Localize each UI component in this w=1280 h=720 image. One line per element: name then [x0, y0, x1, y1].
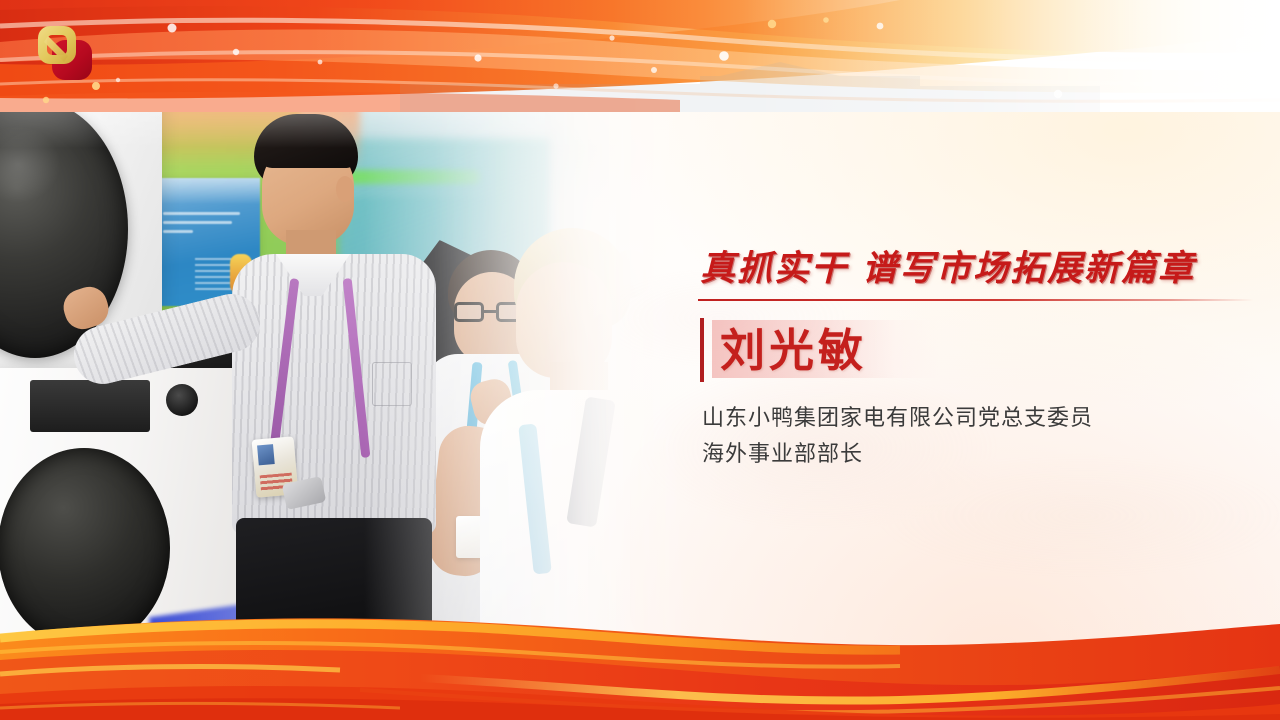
top-decorative-banner [0, 0, 1280, 112]
headline-slogan: 真抓实干 谱写市场拓展新篇章 [698, 248, 1264, 290]
profile-card-slide: 真抓实干 谱写市场拓展新篇章 刘光敏 山东小鸭集团家电有限公司党总支委员 海外事… [0, 0, 1280, 720]
company-logo[interactable] [34, 22, 96, 84]
photo-content [0, 78, 700, 648]
speaker-title-line-1: 山东小鸭集团家电有限公司党总支委员 [702, 400, 1264, 436]
speaker-info-block: 真抓实干 谱写市场拓展新篇章 刘光敏 山东小鸭集团家电有限公司党总支委员 海外事… [698, 248, 1264, 471]
speaker-name-row: 刘光敏 [698, 318, 1264, 382]
speaker-title-line-2: 海外事业部部长 [702, 436, 1264, 472]
speaker-title: 山东小鸭集团家电有限公司党总支委员 海外事业部部长 [698, 400, 1264, 471]
photo-right-fade [0, 78, 700, 648]
speaker-name: 刘光敏 [698, 328, 867, 373]
headline-divider [698, 299, 1254, 301]
bottom-decorative-banner [0, 608, 1280, 720]
exhibition-booth-photo [0, 78, 700, 648]
